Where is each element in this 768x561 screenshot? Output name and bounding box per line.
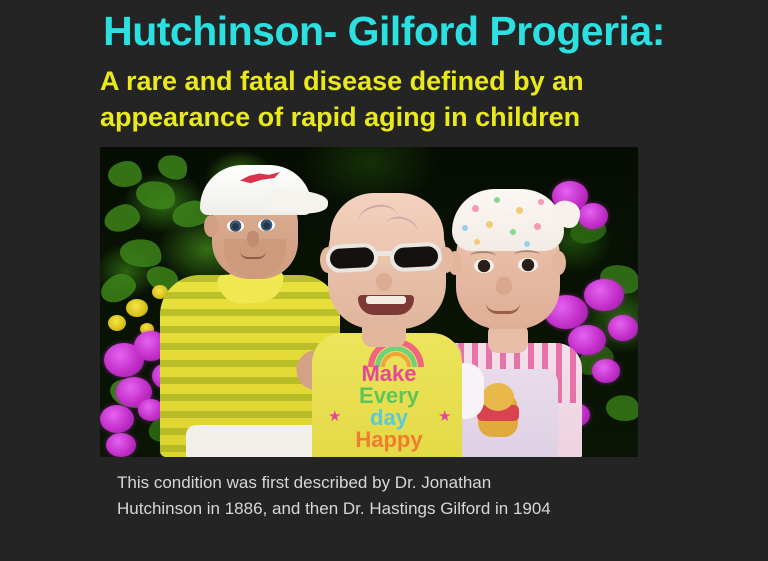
bandana-dot [462,225,468,231]
yellow-flower [108,315,126,331]
right-child-pupil [524,261,533,270]
foliage-leaf [108,161,142,187]
left-child-pupil [263,222,270,229]
bandana-dot [494,197,500,203]
sunglasses-lens [389,242,442,273]
left-child-pupil [232,223,239,230]
petunia-flower [100,405,134,433]
center-child-teeth [366,296,406,304]
center-child-shirt-text: Make Every day Happy [322,363,456,451]
bandana-dot [534,223,541,230]
center-child-nose [376,273,392,291]
photo-caption: This condition was first described by Dr… [117,470,677,523]
slide: Hutchinson- Gilford Progeria: A rare and… [0,0,768,561]
caption-line-2: Hutchinson in 1886, and then Dr. Hasting… [117,496,677,522]
petunia-flower [592,359,620,383]
bandana-dot [472,205,479,212]
right-child-ear [552,251,566,275]
right-child-pupil [480,262,489,271]
shirt-text-line-1: Make [322,363,456,385]
subtitle-line-1: A rare and fatal disease defined by an [100,64,720,100]
subtitle: A rare and fatal disease defined by an a… [100,64,720,135]
winnie-the-pooh-head [482,383,514,411]
left-child-ear [204,215,218,237]
left-child-shorts [186,425,326,457]
petunia-flower [608,315,638,341]
progeria-children-photo: Make Every day Happy ★ ★ [100,147,638,457]
petunia-flower [578,203,608,229]
subtitle-line-2: appearance of rapid aging in children [100,100,720,136]
sunglasses-lens [325,243,378,274]
petunia-flower [106,433,136,457]
yellow-flower [126,299,148,317]
bandana-dot [510,229,516,235]
right-child-nose [496,277,512,295]
sunglasses-bridge [376,251,394,256]
star-icon: ★ [438,409,451,424]
left-child-mouth [240,251,266,259]
bandana-dot [524,241,530,247]
left-child-nose [247,231,259,247]
right-child-bandana [452,189,564,251]
caption-line-1: This condition was first described by Dr… [117,470,677,496]
star-icon: ★ [328,409,341,424]
bandana-dot [516,207,523,214]
petunia-flower [584,279,624,311]
bandana-dot [538,199,544,205]
bandana-dot [474,239,480,245]
page-title: Hutchinson- Gilford Progeria: [0,8,768,55]
shirt-text-line-2: Every [322,385,456,407]
bandana-dot [486,221,493,228]
shirt-text-line-3: day [322,407,456,429]
shirt-text-line-4: Happy [322,429,456,451]
